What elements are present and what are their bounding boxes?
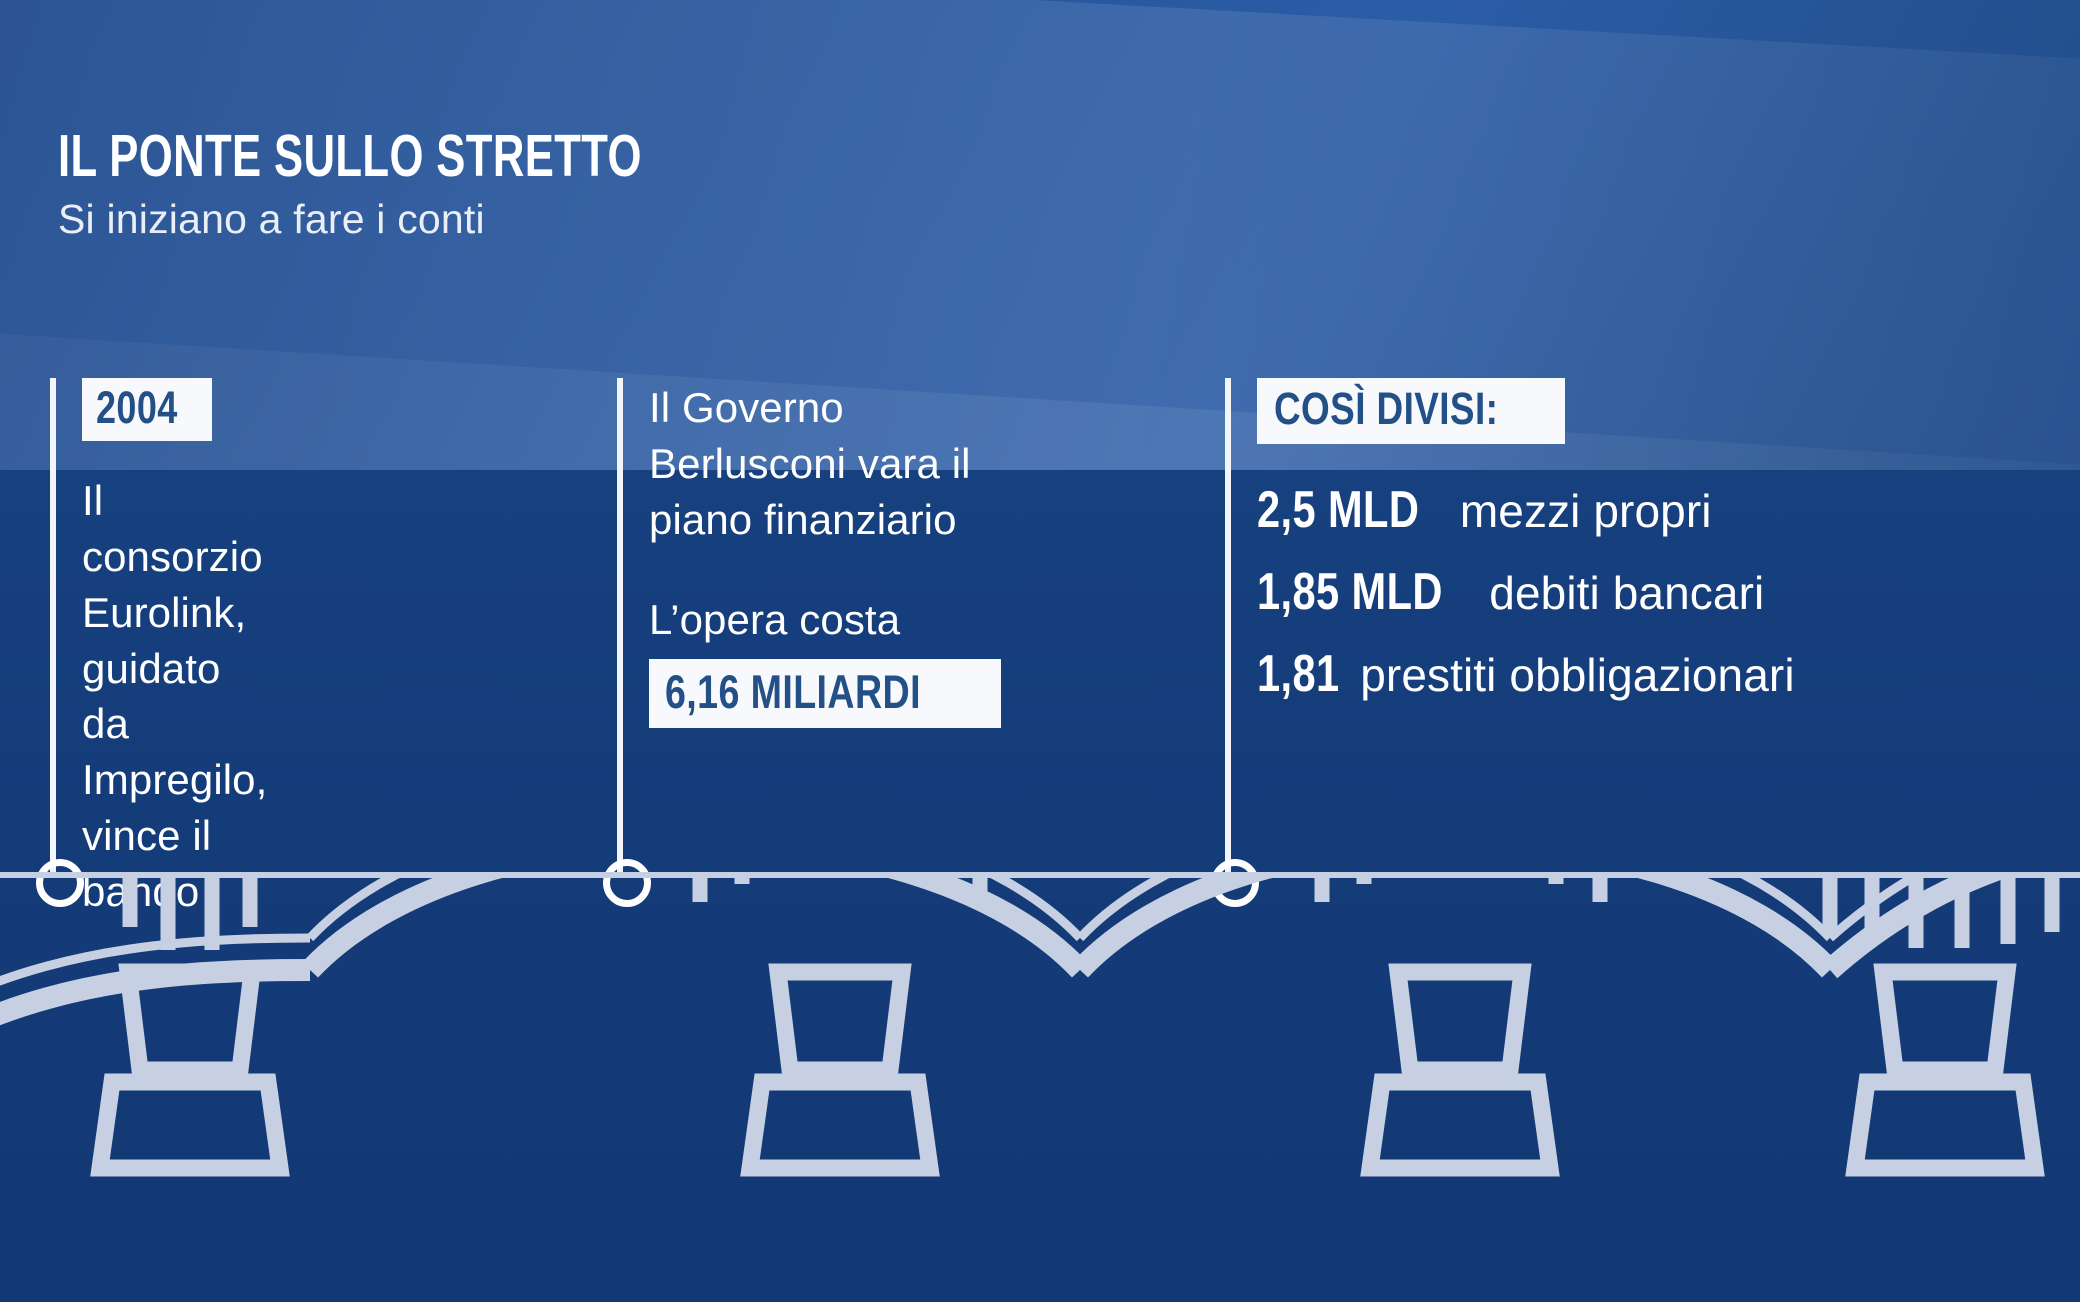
column-2-paragraph-mid: L’opera costa — [649, 592, 1001, 648]
breakdown-header-badge: COSÌ DIVISI: — [1257, 378, 1565, 444]
breakdown-label: prestiti obbligazionari — [1360, 648, 1794, 702]
header: IL PONTE SULLO STRETTO Si iniziano a far… — [58, 126, 847, 243]
infographic-canvas: IL PONTE SULLO STRETTO Si iniziano a far… — [0, 0, 2080, 1302]
cost-badge: 6,16 MILIARDI — [649, 659, 1001, 728]
year-badge-2004: 2004 — [82, 378, 212, 441]
breakdown-list: 2,5 MLD mezzi propri 1,85 MLD debiti ban… — [1257, 480, 1795, 704]
page-title: IL PONTE SULLO STRETTO — [58, 126, 642, 186]
page-subtitle: Si iniziano a fare i conti — [58, 196, 847, 243]
column-2-paragraph-top: Il Governo Berlusconi vara il piano fina… — [649, 380, 1001, 548]
breakdown-row: 2,5 MLD mezzi propri — [1257, 480, 1795, 540]
bridge-illustration — [0, 872, 2080, 1302]
column-rule-1 — [50, 378, 56, 875]
breakdown-header-label: COSÌ DIVISI: — [1274, 383, 1498, 435]
bridge-deck-lower-band — [0, 872, 2080, 878]
breakdown-value: 2,5 MLD — [1257, 480, 1419, 540]
breakdown-label: mezzi propri — [1460, 484, 1712, 538]
column-rule-2 — [617, 378, 623, 875]
bridge-piers — [100, 972, 2035, 1168]
column-3-body: COSÌ DIVISI: 2,5 MLD mezzi propri 1,85 M… — [1257, 378, 1795, 726]
bridge-arches — [0, 872, 2080, 1162]
breakdown-row: 1,81 prestiti obbligazionari — [1257, 644, 1795, 704]
column-1-body: 2004 Il consorzio Eurolink, guidato da I… — [82, 378, 267, 920]
breakdown-value: 1,85 MLD — [1257, 562, 1443, 622]
year-badge-label: 2004 — [96, 382, 178, 434]
column-2-body: Il Governo Berlusconi vara il piano fina… — [649, 378, 1001, 728]
breakdown-value: 1,81 — [1257, 644, 1340, 704]
column-1-paragraph: Il consorzio Eurolink, guidato da Impreg… — [82, 473, 267, 920]
cost-badge-label: 6,16 MILIARDI — [665, 664, 921, 719]
breakdown-label: debiti bancari — [1489, 566, 1764, 620]
bridge-structure — [0, 872, 2080, 1168]
column-rule-3 — [1225, 378, 1231, 875]
breakdown-row: 1,85 MLD debiti bancari — [1257, 562, 1795, 622]
